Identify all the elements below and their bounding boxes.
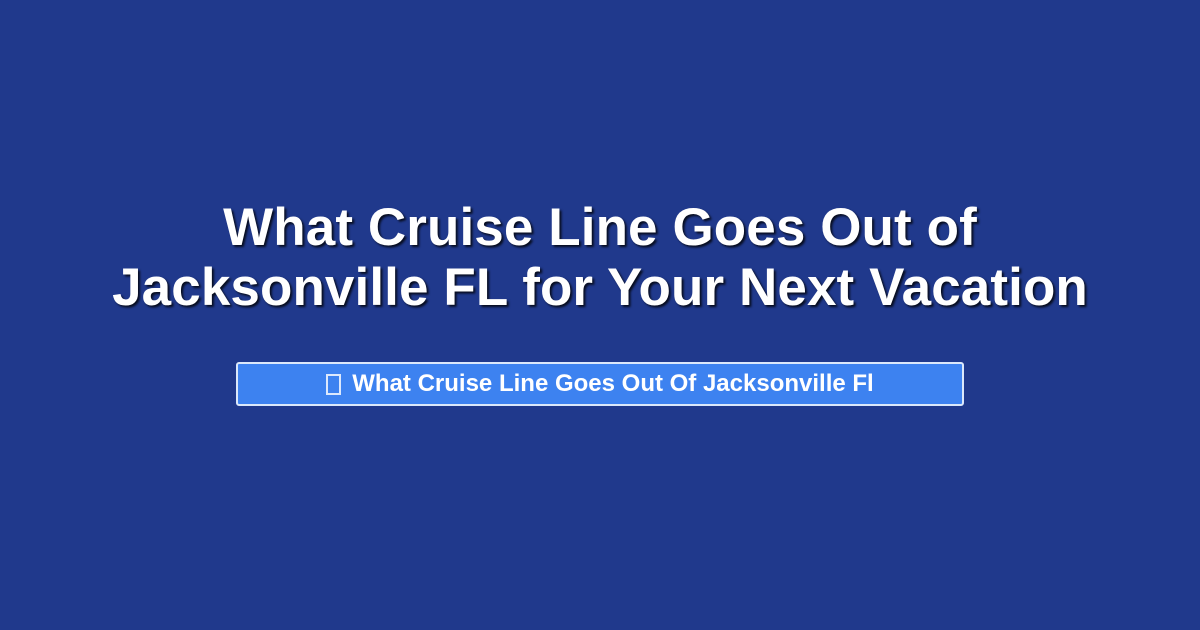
badge-row: What Cruise Line Goes Out Of Jacksonvill… [236, 362, 964, 406]
card-content: What Cruise Line Goes Out of Jacksonvill… [40, 198, 1160, 406]
social-share-card: What Cruise Line Goes Out of Jacksonvill… [0, 0, 1200, 630]
page-title: What Cruise Line Goes Out of Jacksonvill… [50, 198, 1150, 318]
topic-badge-label: What Cruise Line Goes Out Of Jacksonvill… [352, 370, 873, 398]
topic-badge-button[interactable]: What Cruise Line Goes Out Of Jacksonvill… [236, 362, 964, 406]
missing-glyph-box-icon [326, 374, 341, 395]
